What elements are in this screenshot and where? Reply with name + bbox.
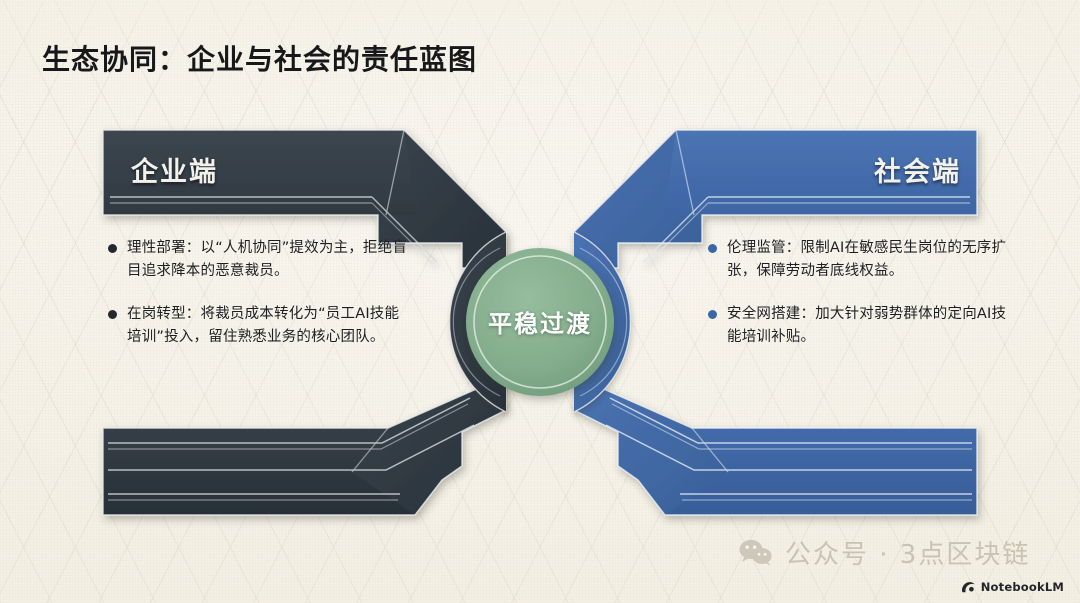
ribbon-right-bottom [574,376,977,515]
ribbon-left-bottom [103,376,506,515]
slide-title: 生态协同：企业与社会的责任蓝图 [42,38,477,78]
panel-header-enterprise: 企业端 [131,150,218,189]
bullet-list-society: 伦理监管：限制AI在敏感民生岗位的无序扩张，保障劳动者底线权益。 安全网搭建：加… [708,237,1008,369]
bullet-dot-icon [708,244,717,253]
list-item: 安全网搭建：加大针对弱势群体的定向AI技能培训补贴。 [708,303,1008,350]
list-item: 伦理监管：限制AI在敏感民生岗位的无序扩张，保障劳动者底线权益。 [708,237,1008,284]
bullet-dot-icon [108,310,117,319]
bullet-text: 理性部署：以“人机协同”提效为主，拒绝盲目追求降本的恶意裁员。 [127,237,408,284]
notebooklm-label: NotebookLM [981,580,1064,594]
bullet-text: 伦理监管：限制AI在敏感民生岗位的无序扩张，保障劳动者底线权益。 [727,237,1008,284]
wechat-watermark: 公众号 · 3点区块链 [739,534,1030,571]
list-item: 在岗转型：将裁员成本转化为“员工AI技能培训”投入，留住熟悉业务的核心团队。 [108,303,408,350]
notebooklm-logo-icon [961,581,976,594]
bullet-text: 安全网搭建：加大针对弱势群体的定向AI技能培训补贴。 [727,303,1008,350]
bullet-dot-icon [108,244,117,253]
slide-canvas: 生态协同：企业与社会的责任蓝图 企业端 社会端 理性部署：以“人机协同”提效为主… [0,0,1080,603]
list-item: 理性部署：以“人机协同”提效为主，拒绝盲目追求降本的恶意裁员。 [108,237,408,284]
bullet-list-enterprise: 理性部署：以“人机协同”提效为主，拒绝盲目追求降本的恶意裁员。 在岗转型：将裁员… [108,237,408,369]
wechat-icon [739,539,773,566]
center-node [466,248,614,396]
bullet-dot-icon [708,310,717,319]
panel-header-society: 社会端 [874,150,961,189]
wechat-watermark-text: 公众号 · 3点区块链 [785,534,1030,571]
notebooklm-badge: NotebookLM [961,580,1064,594]
bullet-text: 在岗转型：将裁员成本转化为“员工AI技能培训”投入，留住熟悉业务的核心团队。 [127,303,408,350]
